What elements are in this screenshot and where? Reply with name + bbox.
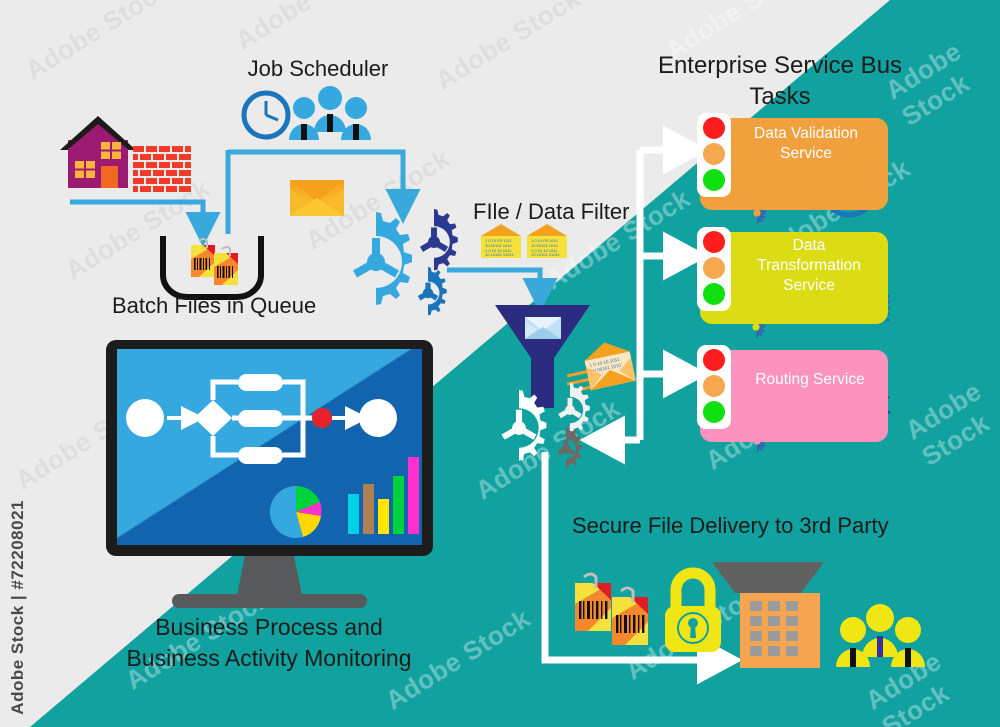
traffic-light-routing — [697, 345, 731, 429]
traffic-light-red — [703, 349, 725, 371]
label-bpm-line-1: Business Process and — [114, 614, 424, 641]
esb-title-line-1: Enterprise Service Bus — [655, 52, 905, 80]
label-bpm-line-2: Business Activity Monitoring — [94, 645, 444, 672]
service-label-line: Data Validation — [736, 124, 876, 144]
traffic-light-red — [703, 117, 725, 139]
traffic-light-amber — [703, 257, 725, 279]
service-label-line: Routing Service — [736, 370, 884, 390]
traffic-light-green — [703, 401, 725, 423]
service-label-data-transformation: Data Transformation Service — [736, 236, 882, 296]
traffic-light-amber — [703, 375, 725, 397]
service-label-line: Data — [736, 236, 882, 256]
traffic-light-red — [703, 231, 725, 253]
envelope-icon — [290, 180, 344, 216]
svg-text:10 10101 01011: 10 10101 01011 — [531, 252, 560, 257]
traffic-light-data-validation — [697, 113, 731, 197]
service-label-line: Service — [736, 276, 882, 296]
secure-delivery-group — [575, 562, 925, 668]
label-batch-files-queue: Batch Files in Queue — [112, 293, 312, 319]
people-group-yellow-icon — [836, 604, 925, 667]
label-secure-delivery: Secure File Delivery to 3rd Party — [572, 513, 889, 539]
service-label-data-validation: Data Validation Service — [736, 124, 876, 164]
traffic-light-data-transformation — [697, 227, 731, 311]
service-label-line: Service — [736, 144, 876, 164]
esb-title-line-2: Tasks — [655, 83, 905, 111]
padlock-icon — [665, 573, 721, 652]
data-envelope-pair-icon: 1 0 10 P0 101110 00101 1010 1 0 10 10 10… — [481, 224, 567, 258]
clock-icon — [244, 93, 288, 137]
brick-wall-icon — [133, 146, 191, 192]
dashboard-pie-chart — [270, 486, 322, 538]
desktop-monitor-icon — [106, 340, 433, 608]
stock-watermark-side: Adobe Stock | #72208021 — [8, 500, 28, 715]
traffic-light-amber — [703, 143, 725, 165]
label-file-data-filter: FIle / Data Filter — [473, 199, 629, 225]
traffic-light-green — [703, 283, 725, 305]
label-job-scheduler: Job Scheduler — [238, 56, 398, 82]
document-stack-icon — [575, 574, 648, 645]
traffic-light-green — [703, 169, 725, 191]
processing-gears-blue — [350, 209, 458, 315]
service-label-line: Transformation — [736, 256, 882, 276]
office-building-icon — [712, 562, 824, 668]
batch-queue-icon — [163, 236, 261, 297]
service-label-routing: Routing Service — [736, 370, 884, 390]
esb-bus-arrows — [604, 150, 684, 440]
svg-text:10 10101 01011: 10 10101 01011 — [485, 252, 514, 257]
house-icon — [60, 116, 136, 188]
infographic-canvas: Adobe Stock Adobe Stock Adobe Stock Adob… — [0, 0, 1000, 727]
people-group-icon — [289, 86, 371, 140]
